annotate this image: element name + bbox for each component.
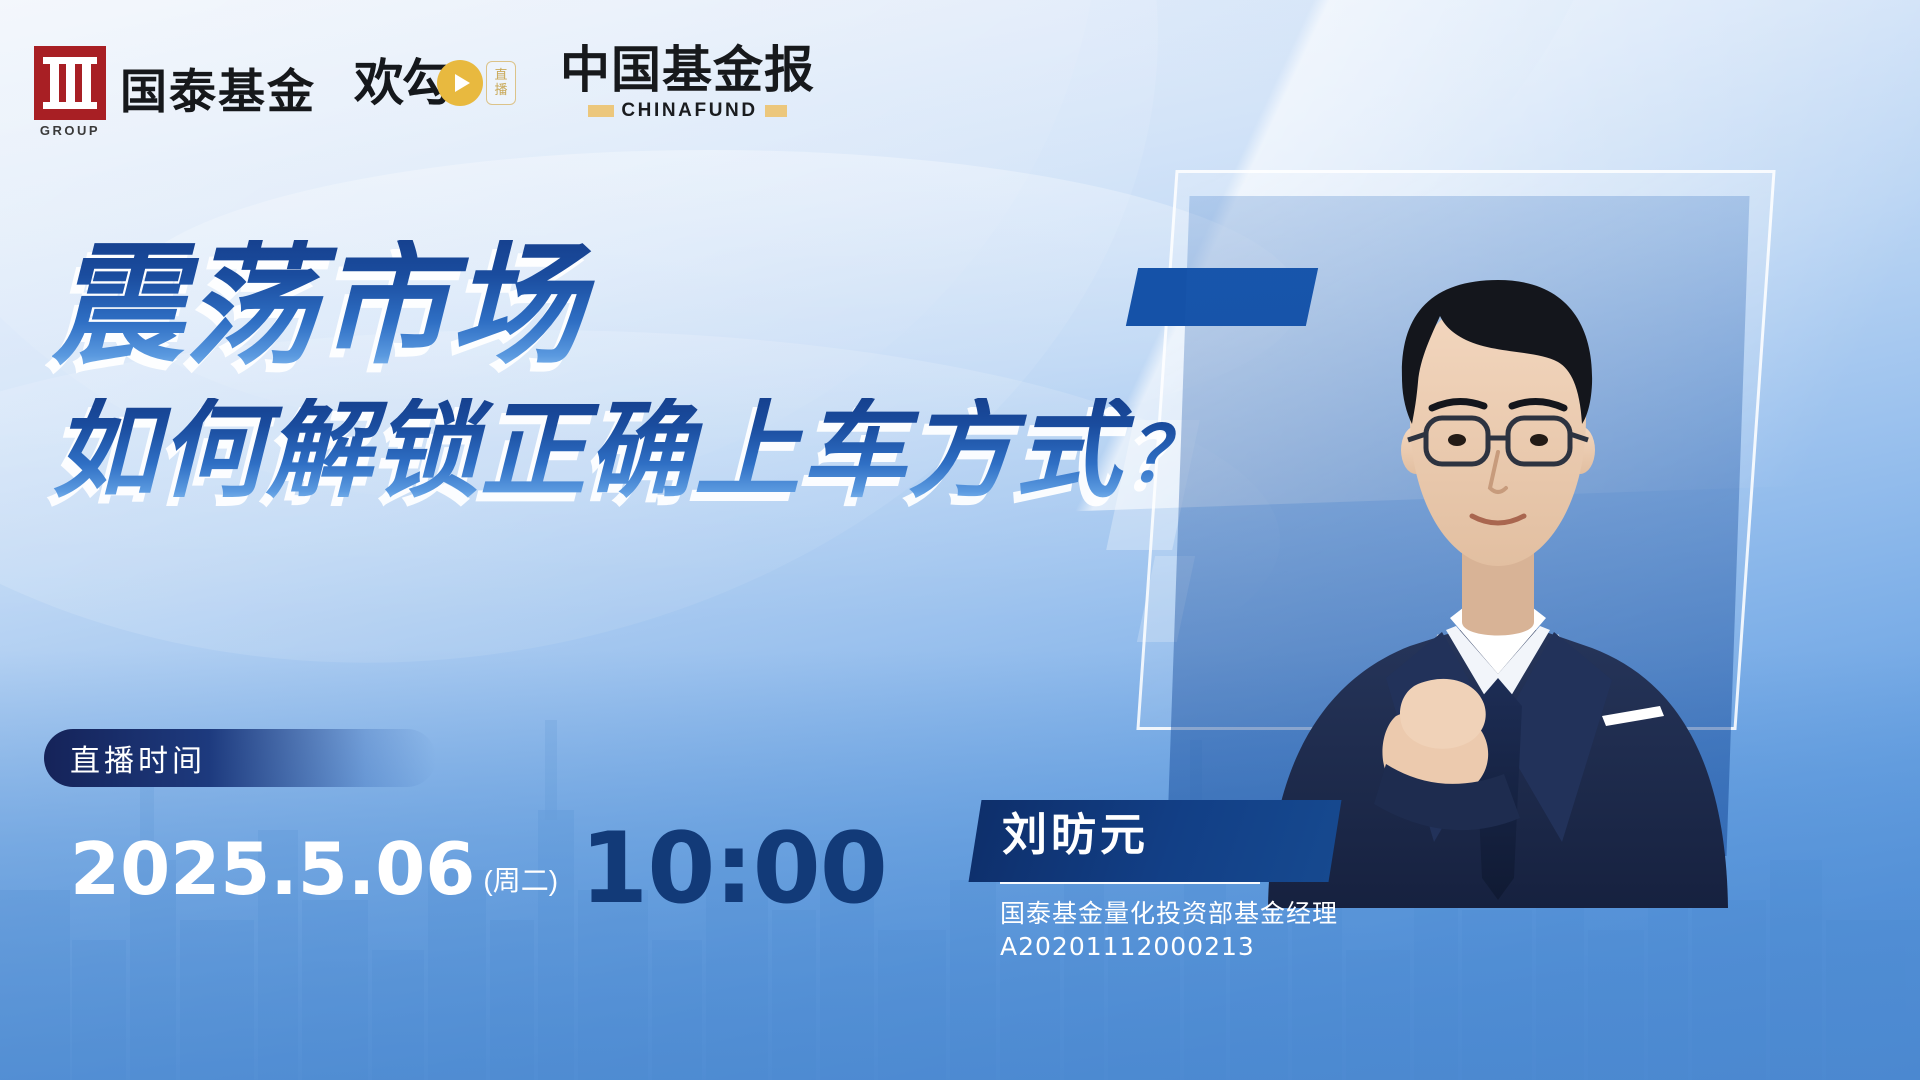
headline-question-mark: ？ bbox=[1128, 410, 1205, 499]
headline-line-2: 如何解锁正确上车方式？ bbox=[52, 398, 1205, 504]
chinafund-subtitle-row: CHINAFUND bbox=[560, 100, 815, 122]
chinafund-tick-left-icon bbox=[588, 105, 614, 117]
live-badge-char-2: 播 bbox=[494, 83, 507, 98]
headline-line-2-text: 如何解锁正确上车方式 bbox=[52, 389, 1122, 512]
live-datetime-row: 2025.5.06 (周二) 10:00 bbox=[70, 812, 887, 910]
guotai-fund-logo: GROUP 国泰基金 bbox=[34, 46, 316, 120]
live-badge-char-1: 直 bbox=[494, 68, 507, 83]
live-time: 10:00 bbox=[580, 820, 887, 918]
chinafund-name: 中国基金报 bbox=[560, 45, 815, 95]
live-weekday: (周二) bbox=[483, 859, 558, 899]
chinafund-logo: 中国基金报 CHINAFUND bbox=[560, 45, 815, 122]
speaker-name-divider bbox=[1000, 882, 1260, 884]
livestream-promo-poster: GROUP 国泰基金 欢勾 直 播 中国基金报 CHINAFUND 震荡市场 如… bbox=[0, 0, 1920, 1080]
chinafund-subtitle: CHINAFUND bbox=[621, 100, 757, 122]
guotai-logo-mark-icon: GROUP bbox=[34, 46, 106, 120]
play-icon bbox=[437, 60, 483, 106]
live-badge-icon: 直 播 bbox=[486, 61, 516, 105]
headline-line-1: 震荡市场 bbox=[52, 240, 1205, 372]
guotai-fund-name: 国泰基金 bbox=[120, 69, 316, 120]
logo-bar: GROUP 国泰基金 欢勾 直 播 中国基金报 CHINAFUND bbox=[34, 40, 815, 126]
live-time-badge-label: 直播时间 bbox=[70, 736, 206, 780]
live-date: 2025.5.06 bbox=[70, 833, 475, 905]
huanju-name: 欢勾 bbox=[354, 58, 450, 108]
chinafund-tick-right-icon bbox=[765, 105, 787, 117]
headline-block: 震荡市场 如何解锁正确上车方式？ bbox=[52, 240, 1205, 504]
huanju-live-logo: 欢勾 直 播 bbox=[354, 58, 516, 108]
speaker-title: 国泰基金量化投资部基金经理 bbox=[1000, 896, 1338, 932]
speaker-name: 刘昉元 bbox=[1002, 812, 1149, 857]
speaker-license-code: A20201112000213 bbox=[1000, 932, 1255, 962]
speaker-photo bbox=[1210, 118, 1770, 908]
live-time-badge: 直播时间 bbox=[44, 729, 436, 787]
guotai-group-label: GROUP bbox=[34, 123, 106, 138]
